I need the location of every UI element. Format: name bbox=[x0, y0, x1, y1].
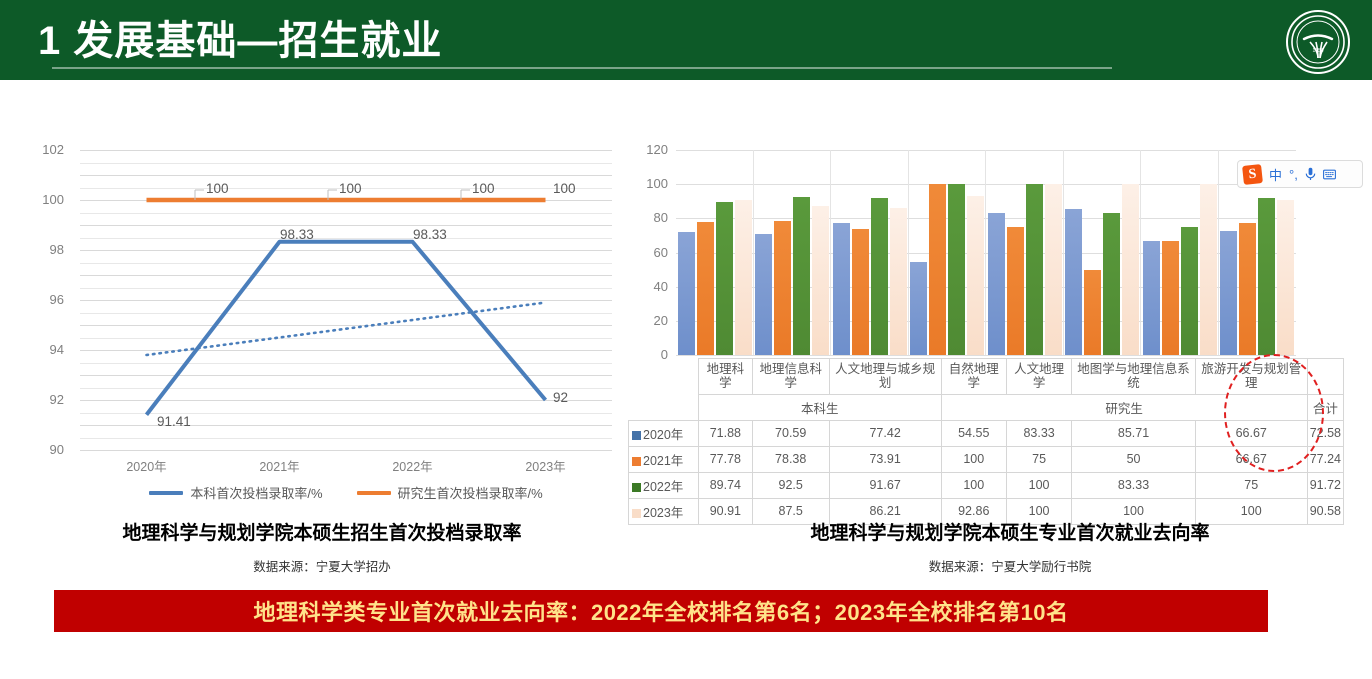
legend-swatch-undergraduate bbox=[149, 491, 183, 495]
legend-swatch-2022 bbox=[632, 483, 641, 492]
cell-2020-dilixinxikexue: 70.59 bbox=[752, 420, 829, 446]
legend-swatch-2020 bbox=[632, 431, 641, 440]
row-label-text-2023: 2023年 bbox=[643, 506, 683, 520]
sogou-ime-toolbar[interactable]: S 中 °, bbox=[1237, 160, 1363, 188]
cell-2022-renwendili: 91.67 bbox=[829, 472, 941, 498]
cell-2021-renwendilixue: 75 bbox=[1006, 446, 1071, 472]
bar-2023 bbox=[1045, 184, 1062, 355]
data-label-grad-2022: 100 bbox=[472, 181, 495, 196]
cell-2021-dituxue: 50 bbox=[1072, 446, 1196, 472]
y-axis-tick: 120 bbox=[632, 142, 668, 157]
cell-2022-renwendilixue: 100 bbox=[1006, 472, 1071, 498]
cell-2020-total: 72.58 bbox=[1307, 420, 1343, 446]
y-axis-tick: 102 bbox=[24, 142, 64, 157]
svg-text:1958: 1958 bbox=[1312, 48, 1323, 54]
ime-mode-chinese-button[interactable]: 中 bbox=[1269, 165, 1282, 184]
bar-2020 bbox=[833, 223, 850, 355]
left-caption-title: 地理科学与规划学院本硕生招生首次投档录取率 bbox=[22, 518, 622, 545]
row-label-2023[interactable]: 2023年 bbox=[629, 498, 699, 524]
y-axis-tick: 96 bbox=[24, 292, 64, 307]
cell-2021-ziranddilixue: 100 bbox=[941, 446, 1006, 472]
bar-groups bbox=[676, 150, 1296, 355]
bar-2022 bbox=[1181, 227, 1198, 355]
bar-2023 bbox=[1122, 184, 1139, 355]
bar-2020 bbox=[1143, 241, 1160, 355]
ningxia-university-logo-icon: 1958 bbox=[1286, 10, 1350, 74]
legend-swatch-2023 bbox=[632, 509, 641, 518]
bar-2020 bbox=[1065, 209, 1082, 355]
bar-2020 bbox=[755, 234, 772, 355]
left-chart-caption: 地理科学与规划学院本硕生招生首次投档录取率 数据来源：宁夏大学招办 bbox=[22, 518, 622, 575]
cell-2020-lvyoukaifa: 66.67 bbox=[1195, 420, 1307, 446]
row-label-text-2020: 2020年 bbox=[643, 428, 683, 442]
group-header-undergraduate: 本科生 bbox=[699, 394, 942, 420]
table-row: 2021年 77.78 78.38 73.91 100 75 50 66.67 … bbox=[629, 446, 1344, 472]
x-axis-tick: 2022年 bbox=[392, 456, 432, 475]
cell-2022-dituxue: 83.33 bbox=[1072, 472, 1196, 498]
legend-label-graduate: 研究生首次投档录取率/% bbox=[398, 483, 543, 502]
col-header-dilixinxikexue: 地理信息科学 bbox=[752, 359, 829, 395]
data-label-undergrad-2023: 92 bbox=[553, 390, 568, 405]
bar-group-renwendili bbox=[831, 150, 909, 355]
slide-header: 1 发展基础—招生就业 1958 bbox=[0, 0, 1372, 80]
y-axis-tick: 20 bbox=[632, 313, 668, 328]
bar-chart-employment-rate: 120 100 80 60 40 20 0 bbox=[628, 140, 1348, 510]
header-divider bbox=[52, 67, 1112, 69]
left-caption-source: 数据来源：宁夏大学招办 bbox=[22, 556, 622, 575]
row-label-2022[interactable]: 2022年 bbox=[629, 472, 699, 498]
legend-swatch-2021 bbox=[632, 457, 641, 466]
right-chart-caption: 地理科学与规划学院本硕生专业首次就业去向率 数据来源：宁夏大学励行书院 bbox=[700, 518, 1320, 575]
bar-group-dilikexue bbox=[676, 150, 754, 355]
y-axis-tick: 92 bbox=[24, 392, 64, 407]
bar-2022 bbox=[1103, 213, 1120, 355]
cell-2020-ziranddilixue: 54.55 bbox=[941, 420, 1006, 446]
bar-2022 bbox=[1258, 198, 1275, 355]
table-row: 2020年 71.88 70.59 77.42 54.55 83.33 85.7… bbox=[629, 420, 1344, 446]
y-axis-tick: 80 bbox=[632, 210, 668, 225]
bar-group-dituxue bbox=[1064, 150, 1142, 355]
highlight-banner: 地理科学类专业首次就业去向率：2022年全校排名第6名；2023年全校排名第10… bbox=[54, 590, 1268, 632]
bar-group-renwendilixue bbox=[986, 150, 1064, 355]
bar-group-ziranddilixue bbox=[909, 150, 987, 355]
table-header-row-groups: 本科生 研究生 合计 bbox=[629, 394, 1344, 420]
ime-punctuation-button[interactable]: °, bbox=[1289, 167, 1298, 182]
page-title: 1 发展基础—招生就业 bbox=[38, 8, 442, 66]
y-axis-tick: 100 bbox=[632, 176, 668, 191]
cell-2020-dilikexue: 71.88 bbox=[699, 420, 753, 446]
col-header-ziranddilixue: 自然地理学 bbox=[941, 359, 1006, 395]
bar-2023 bbox=[735, 200, 752, 355]
bar-2021 bbox=[1007, 227, 1024, 355]
bar-2020 bbox=[910, 262, 927, 355]
slide: 1 发展基础—招生就业 1958 bbox=[0, 0, 1372, 679]
row-label-text-2022: 2022年 bbox=[643, 480, 683, 494]
right-caption-title: 地理科学与规划学院本硕生专业首次就业去向率 bbox=[700, 518, 1320, 545]
x-axis-tick: 2020年 bbox=[126, 456, 166, 475]
bar-2022 bbox=[871, 198, 888, 355]
data-label-undergrad-2020: 91.41 bbox=[157, 414, 191, 429]
cell-2021-dilikexue: 77.78 bbox=[699, 446, 753, 472]
legend-item-undergraduate[interactable]: 本科首次投档录取率/% bbox=[149, 483, 322, 502]
data-label-grad-2023: 100 bbox=[553, 181, 576, 196]
bar-2023 bbox=[890, 208, 907, 355]
bar-2023 bbox=[967, 196, 984, 355]
table-corner-cell bbox=[629, 359, 699, 395]
cell-2022-lvyoukaifa: 75 bbox=[1195, 472, 1307, 498]
cell-2020-dituxue: 85.71 bbox=[1072, 420, 1196, 446]
col-header-renwendilixue: 人文地理学 bbox=[1006, 359, 1071, 395]
y-axis-tick: 100 bbox=[24, 192, 64, 207]
bar-chart-plot-area: 120 100 80 60 40 20 0 bbox=[676, 150, 1296, 355]
cell-2020-renwendili: 77.42 bbox=[829, 420, 941, 446]
bar-2021 bbox=[1162, 241, 1179, 355]
col-header-total-spacer bbox=[1307, 359, 1343, 395]
bar-2021 bbox=[929, 184, 946, 355]
cell-2021-dilixinxikexue: 78.38 bbox=[752, 446, 829, 472]
data-label-grad-2020: 100 bbox=[206, 181, 229, 196]
row-label-2021[interactable]: 2021年 bbox=[629, 446, 699, 472]
legend-swatch-graduate bbox=[357, 491, 391, 495]
cell-2021-renwendili: 73.91 bbox=[829, 446, 941, 472]
legend-item-graduate[interactable]: 研究生首次投档录取率/% bbox=[357, 483, 543, 502]
microphone-icon[interactable] bbox=[1305, 167, 1316, 181]
line-chart-plot-area: 102 100 98 96 94 92 90 91.41 bbox=[80, 150, 612, 450]
bar-2020 bbox=[1220, 231, 1237, 355]
bar-2023 bbox=[1200, 184, 1217, 355]
group-header-graduate: 研究生 bbox=[941, 394, 1307, 420]
bar-2023 bbox=[1277, 200, 1294, 355]
sogou-logo-icon[interactable]: S bbox=[1242, 164, 1263, 185]
col-header-lvyoukaifa: 旅游开发与规划管理 bbox=[1195, 359, 1307, 395]
bar-2022 bbox=[1026, 184, 1043, 355]
cell-2022-ziranddilixue: 100 bbox=[941, 472, 1006, 498]
group-header-total: 合计 bbox=[1307, 394, 1343, 420]
table-row: 2022年 89.74 92.5 91.67 100 100 83.33 75 … bbox=[629, 472, 1344, 498]
table-header-row-categories: 地理科学 地理信息科学 人文地理与城乡规划 自然地理学 人文地理学 地图学与地理… bbox=[629, 359, 1344, 395]
bar-2020 bbox=[678, 232, 695, 355]
row-label-2020[interactable]: 2020年 bbox=[629, 420, 699, 446]
col-header-renwendili: 人文地理与城乡规划 bbox=[829, 359, 941, 395]
y-axis-tick: 90 bbox=[24, 442, 64, 457]
bar-group-lvyoukaifa bbox=[1141, 150, 1219, 355]
col-header-dilikexue: 地理科学 bbox=[699, 359, 753, 395]
bar-2022 bbox=[716, 202, 733, 355]
line-chart-legend: 本科首次投档录取率/% 研究生首次投档录取率/% bbox=[80, 483, 612, 502]
x-axis-tick: 2021年 bbox=[259, 456, 299, 475]
bar-2022 bbox=[948, 184, 965, 355]
x-axis-labels: 2020年 2021年 2022年 2023年 bbox=[80, 456, 612, 478]
bar-2021 bbox=[852, 229, 869, 355]
y-axis-tick: 98 bbox=[24, 242, 64, 257]
y-axis-tick: 94 bbox=[24, 342, 64, 357]
data-label-undergrad-2021: 98.33 bbox=[280, 227, 314, 242]
cell-2022-total: 91.72 bbox=[1307, 472, 1343, 498]
bar-2023 bbox=[812, 206, 829, 356]
col-header-dituxue: 地图学与地理信息系统 bbox=[1072, 359, 1196, 395]
legend-label-undergraduate: 本科首次投档录取率/% bbox=[190, 483, 322, 502]
cell-2022-dilixinxikexue: 92.5 bbox=[752, 472, 829, 498]
data-label-grad-2021: 100 bbox=[339, 181, 362, 196]
cell-2020-renwendilixue: 83.33 bbox=[1006, 420, 1071, 446]
bar-group-dilixinxikexue bbox=[754, 150, 832, 355]
bar-2021 bbox=[1239, 223, 1256, 355]
cell-2021-total: 77.24 bbox=[1307, 446, 1343, 472]
keyboard-icon[interactable] bbox=[1323, 169, 1336, 180]
highlight-banner-text: 地理科学类专业首次就业去向率：2022年全校排名第6名；2023年全校排名第10… bbox=[253, 595, 1068, 627]
y-axis-tick: 60 bbox=[632, 245, 668, 260]
bar-2021 bbox=[697, 222, 714, 355]
y-axis-tick: 40 bbox=[632, 279, 668, 294]
x-axis-tick: 2023年 bbox=[525, 456, 565, 475]
cell-2021-lvyoukaifa: 66.67 bbox=[1195, 446, 1307, 472]
bar-2021 bbox=[1084, 270, 1101, 355]
bar-2021 bbox=[774, 221, 791, 355]
row-label-text-2021: 2021年 bbox=[643, 454, 683, 468]
bar-2022 bbox=[793, 197, 810, 355]
line-chart-admission-rate: 102 100 98 96 94 92 90 91.41 bbox=[22, 138, 622, 468]
right-caption-source: 数据来源：宁夏大学励行书院 bbox=[700, 556, 1320, 575]
table-corner-cell-2 bbox=[629, 394, 699, 420]
cell-2022-dilikexue: 89.74 bbox=[699, 472, 753, 498]
bar-2020 bbox=[988, 213, 1005, 355]
data-label-undergrad-2022: 98.33 bbox=[413, 227, 447, 242]
employment-data-table: 地理科学 地理信息科学 人文地理与城乡规划 自然地理学 人文地理学 地图学与地理… bbox=[628, 358, 1344, 525]
